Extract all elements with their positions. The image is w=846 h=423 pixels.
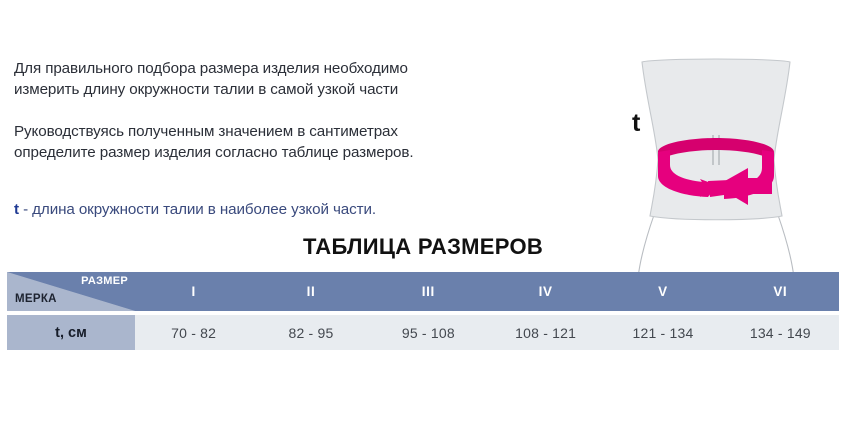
corner-size-label: РАЗМЕР: [81, 275, 128, 287]
instruction-paragraph-2: Руководствуясь полученным значением в са…: [14, 121, 514, 163]
instructions-block: Для правильного подбора размера изделия …: [14, 58, 514, 163]
table-corner-cell: РАЗМЕР МЕРКА: [7, 272, 135, 313]
corner-measure-label: МЕРКА: [15, 293, 57, 305]
column-header-5: V: [604, 272, 721, 313]
cell-size-6: 134 - 149: [722, 313, 839, 350]
legend-definition: t - длина окружности талии в наиболее уз…: [14, 199, 376, 220]
table-row: t, см 70 - 82 82 - 95 95 - 108 108 - 121…: [7, 313, 839, 350]
size-table: РАЗМЕР МЕРКА I II III IV V VI t, см 70 -…: [7, 272, 839, 350]
column-header-1: I: [135, 272, 252, 313]
table-header-row: РАЗМЕР МЕРКА I II III IV V VI: [7, 272, 839, 313]
column-header-3: III: [370, 272, 487, 313]
cell-size-2: 82 - 95: [252, 313, 369, 350]
cell-size-3: 95 - 108: [370, 313, 487, 350]
cell-size-4: 108 - 121: [487, 313, 604, 350]
legend-text: - длина окружности талии в наиболее узко…: [19, 201, 376, 218]
column-header-2: II: [252, 272, 369, 313]
paragraph-2-line-1: Руководствуясь полученным значением в са…: [14, 121, 514, 142]
paragraph-1-line-1: Для правильного подбора размера изделия …: [14, 58, 514, 79]
waist-symbol-t: t: [632, 111, 640, 136]
cell-size-1: 70 - 82: [135, 313, 252, 350]
column-header-4: IV: [487, 272, 604, 313]
instruction-paragraph-1: Для правильного подбора размера изделия …: [14, 58, 514, 100]
size-table-title: ТАБЛИЦА РАЗМЕРОВ: [0, 234, 846, 260]
column-header-6: VI: [722, 272, 839, 313]
cell-size-5: 121 - 134: [604, 313, 721, 350]
paragraph-2-line-2: определите размер изделия согласно табли…: [14, 142, 514, 163]
paragraph-1-line-2: измерить длину окружности талии в самой …: [14, 79, 514, 100]
row-label-waist: t, см: [7, 313, 135, 350]
